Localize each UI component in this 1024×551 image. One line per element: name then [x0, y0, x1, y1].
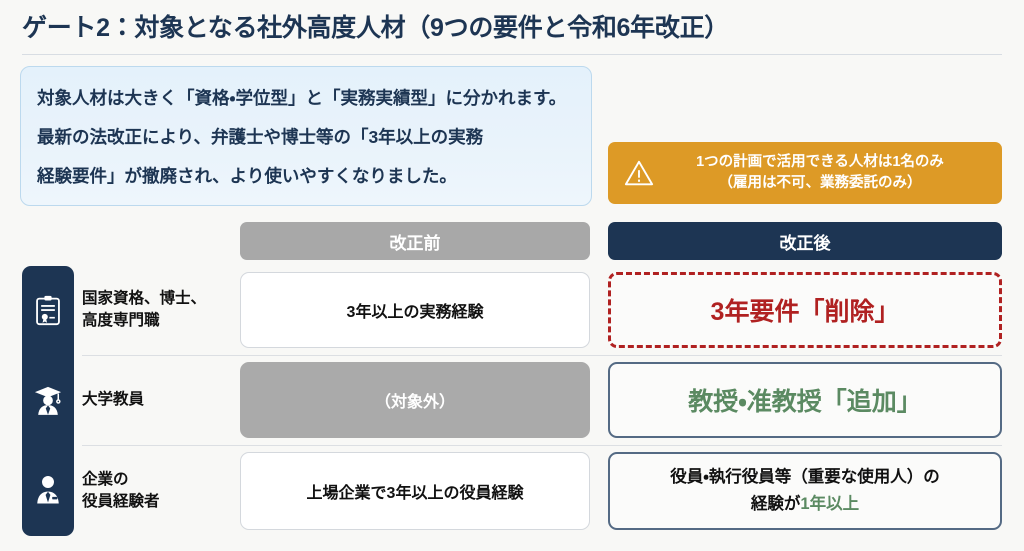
category-label: 大学教員 — [82, 356, 232, 444]
intro-line-2: 最新の法改正により、弁護士や博士等の「3年以上の実務 — [37, 118, 575, 157]
category-label-line-1: 国家資格、博士、 — [82, 288, 232, 310]
before-cell: 上場企業で3年以上の役員経験 — [240, 452, 590, 530]
before-cell: 3年以上の実務経験 — [240, 272, 590, 348]
category-label-line-2: 高度専門職 — [82, 310, 232, 332]
clipboard-certificate-icon — [22, 293, 74, 327]
warning-text: 1つの計画で活用できる人材は1名のみ （雇用は不可、業務委託のみ） — [662, 152, 988, 194]
category-icon-rail — [22, 266, 74, 536]
title-divider — [22, 54, 1002, 55]
column-header-before: 改正前 — [240, 222, 590, 260]
after-cell-line-2: 経験が1年以上 — [670, 491, 940, 518]
after-cell: 教授・准教授「追加」 — [608, 362, 1002, 438]
warning-triangle-icon — [622, 156, 656, 190]
table-row: 国家資格、博士、 高度専門職 3年以上の実務経験 3年要件「削除」 — [82, 266, 1002, 354]
category-label-line-1: 企業の — [82, 469, 232, 491]
before-cell: （対象外） — [240, 362, 590, 438]
table-row: 大学教員 （対象外） 教授・准教授「追加」 — [82, 356, 1002, 444]
category-label-line-2: 役員経験者 — [82, 491, 232, 513]
after-cell-accent: 1年以上 — [800, 495, 859, 513]
after-cell: 3年要件「削除」 — [608, 272, 1002, 348]
category-label: 企業の 役員経験者 — [82, 446, 232, 536]
warning-line-2: （雇用は不可、業務委託のみ） — [662, 173, 978, 194]
after-cell-line-1: 役員・執行役員等（重要な使用人）の — [670, 464, 940, 491]
intro-line-1: 対象人材は大きく「資格・学位型」と「実務実績型」に分かれます。 — [37, 79, 575, 118]
column-header-after: 改正後 — [608, 222, 1002, 260]
graduate-teacher-icon — [22, 383, 74, 417]
category-label-line-1: 大学教員 — [82, 389, 232, 411]
warning-callout: 1つの計画で活用できる人材は1名のみ （雇用は不可、業務委託のみ） — [608, 142, 1002, 204]
table-row: 企業の 役員経験者 上場企業で3年以上の役員経験 役員・執行役員等（重要な使用人… — [82, 446, 1002, 536]
after-cell: 役員・執行役員等（重要な使用人）の 経験が1年以上 — [608, 452, 1002, 530]
infographic-canvas: ゲート2：対象となる社外高度人材（9つの要件と令和6年改正） 対象人材は大きく「… — [0, 0, 1024, 551]
category-label: 国家資格、博士、 高度専門職 — [82, 266, 232, 354]
page-title: ゲート2：対象となる社外高度人材（9つの要件と令和6年改正） — [22, 8, 729, 44]
intro-note-box: 対象人材は大きく「資格・学位型」と「実務実績型」に分かれます。 最新の法改正によ… — [20, 66, 592, 206]
intro-line-3: 経験要件」が撤廃され、より使いやすくなりました。 — [37, 157, 575, 196]
businessperson-icon — [22, 472, 74, 506]
warning-line-1: 1つの計画で活用できる人材は1名のみ — [662, 152, 978, 173]
after-cell-prefix: 経験が — [751, 495, 801, 513]
